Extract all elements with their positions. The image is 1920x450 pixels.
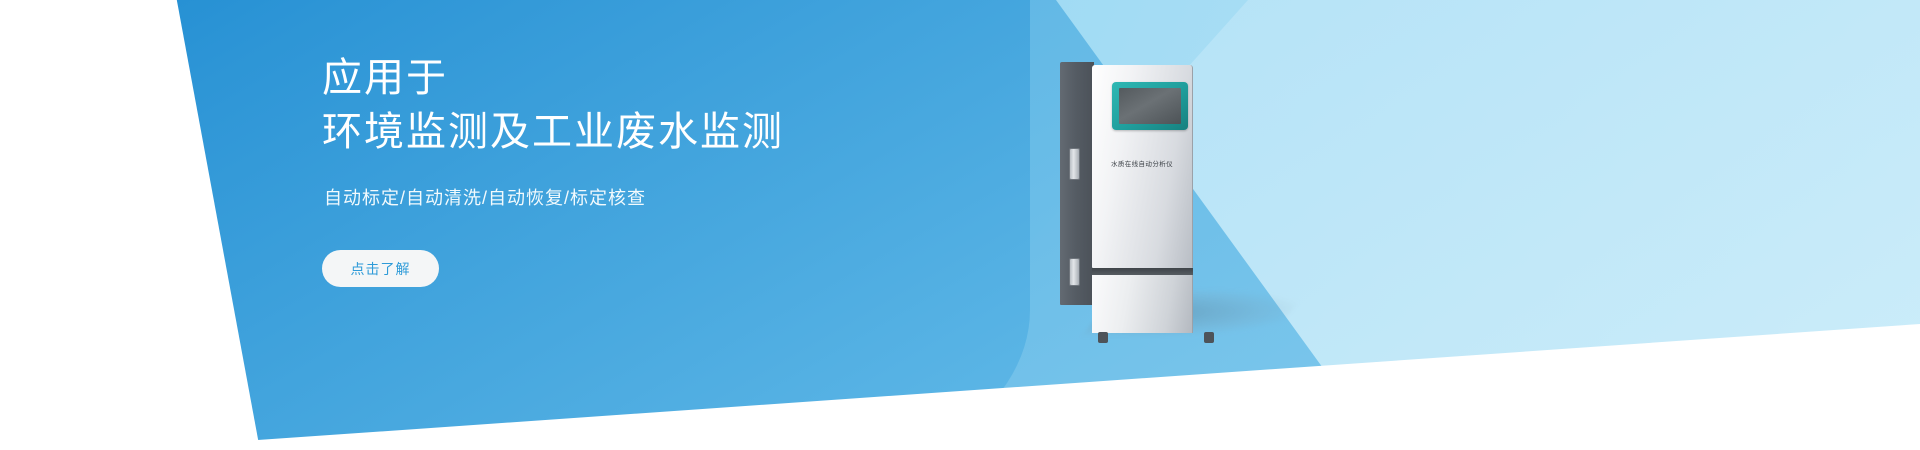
machine-divider [1092, 268, 1193, 275]
banner-content: 应用于 环境监测及工业废水监测 自动标定/自动清洗/自动恢复/标定核查 点击了解 [322, 0, 1022, 450]
machine-display-frame [1112, 82, 1188, 130]
machine-label: 水质在线自动分析仪 [1092, 158, 1192, 168]
hero-banner: 应用于 环境监测及工业废水监测 自动标定/自动清洗/自动恢复/标定核查 点击了解… [0, 0, 1920, 450]
machine-upper-handle-icon [1069, 148, 1080, 180]
machine-caster-right [1204, 332, 1214, 343]
machine-lower-handle-icon [1069, 258, 1080, 286]
headline: 应用于 环境监测及工业废水监测 [322, 52, 784, 159]
machine-lower-door [1092, 275, 1193, 333]
water-analyzer-image: 水质在线自动分析仪 [1060, 62, 1250, 322]
machine-caster-left [1098, 332, 1108, 343]
learn-more-button[interactable]: 点击了解 [322, 250, 439, 287]
headline-line-2: 环境监测及工业废水监测 [322, 106, 784, 160]
subtitle: 自动标定/自动清洗/自动恢复/标定核查 [324, 184, 646, 210]
machine-side-panel [1060, 62, 1094, 305]
headline-line-1: 应用于 [322, 52, 784, 106]
machine-upper-door: 水质在线自动分析仪 [1092, 65, 1193, 268]
machine-display-screen [1119, 88, 1181, 124]
